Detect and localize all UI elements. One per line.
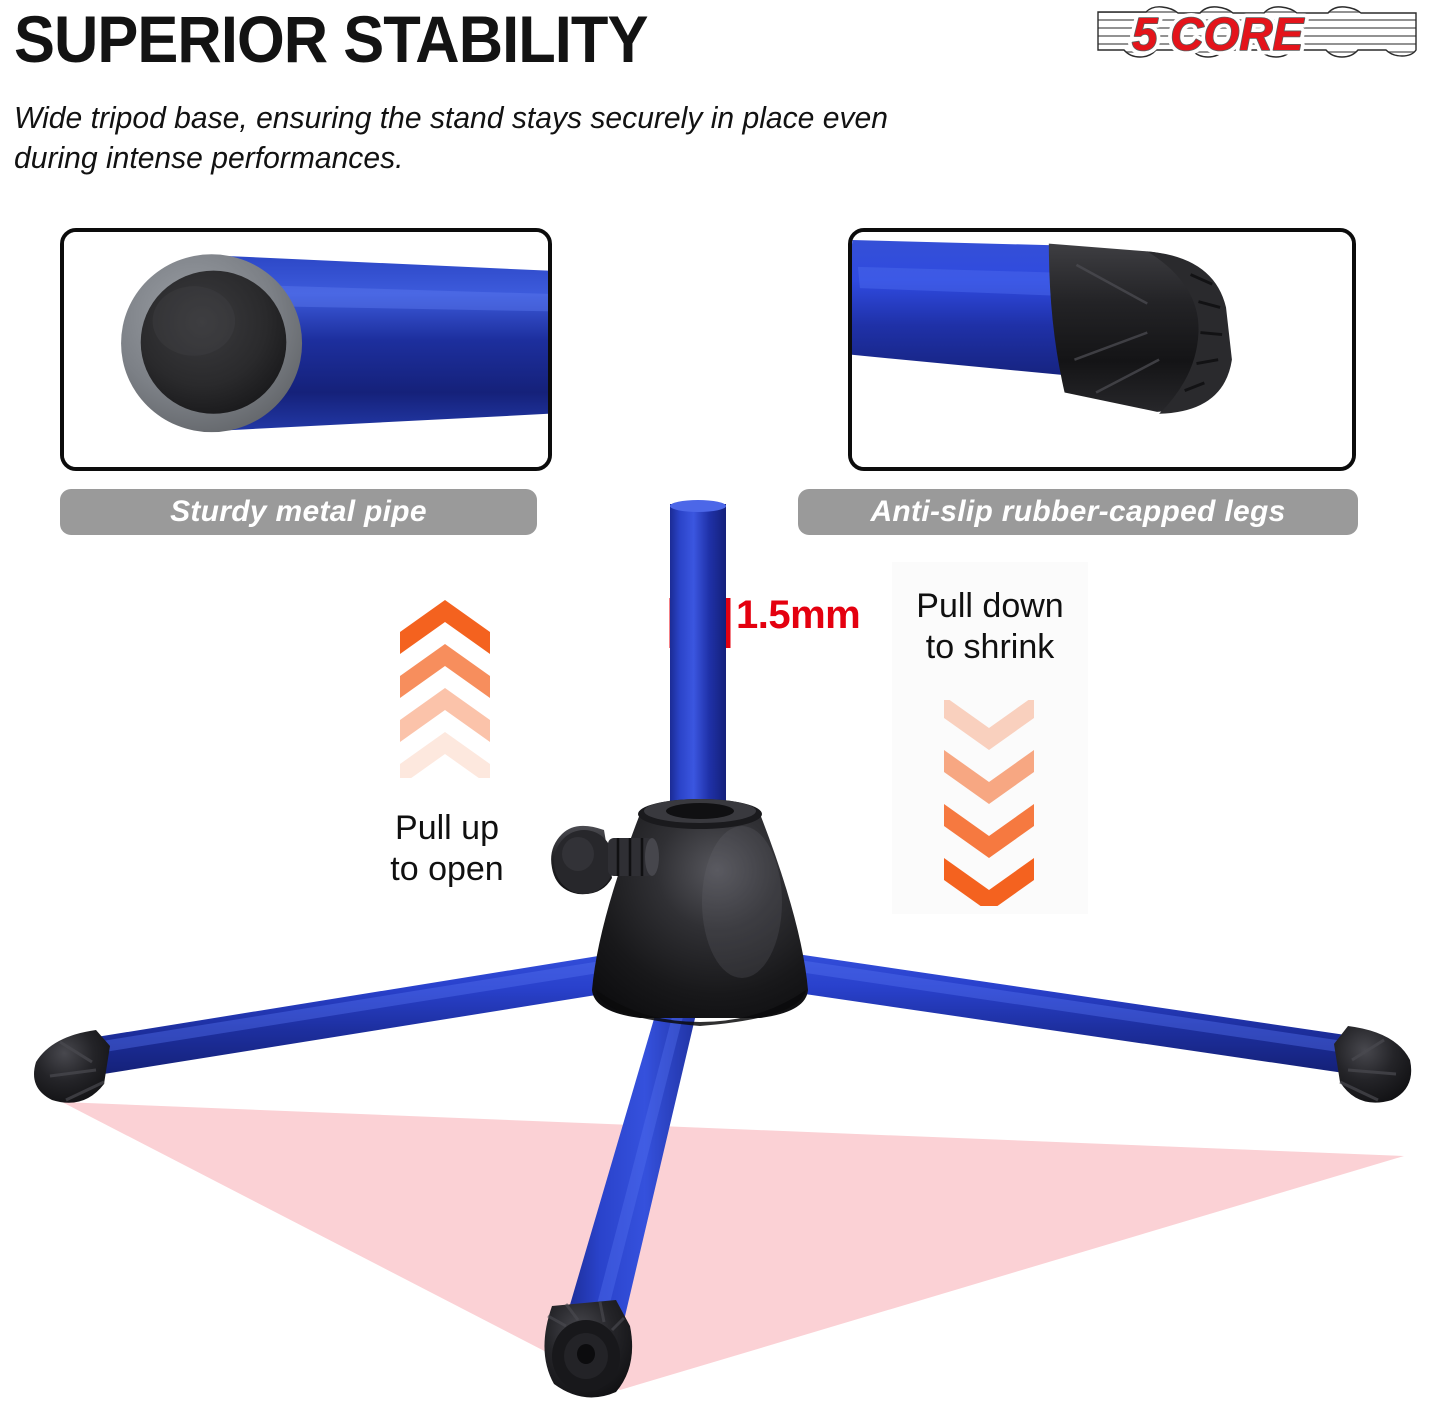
foot-cap-left [34,1030,110,1103]
photo-card-sturdy-metal-pipe [60,228,552,471]
page-subtitle: Wide tripod base, ensuring the stand sta… [14,98,945,177]
leg-left [34,948,648,1103]
brand-logo-5core: 5 CORE 5 CORE 5 CORE [1096,4,1418,66]
foot-cap-right [1334,1026,1411,1103]
center-pipe [670,500,726,810]
svg-text:5 CORE: 5 CORE [1132,8,1305,60]
stability-footprint-triangle [62,1102,1404,1390]
photo-card-anti-slip-legs [848,228,1356,471]
hub-housing [592,799,808,1026]
page-title: SUPERIOR STABILITY [14,6,647,72]
leg-right [756,948,1411,1103]
tripod-base-illustration [0,470,1429,1400]
